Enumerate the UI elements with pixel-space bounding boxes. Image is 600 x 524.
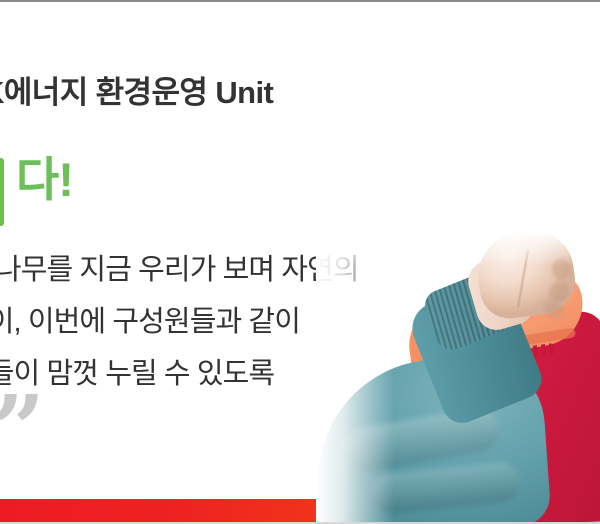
planter-box-shape [0,158,4,226]
seedling-sprout-icon [0,134,6,226]
photo-left-fade [316,232,394,524]
page-root: SK에너지 환경운영 Unit 다! 수 나무를 지금 우리가 보며 자연의 같… [0,0,600,524]
knuckle-shape [544,302,564,318]
closing-quotation-mark-icon: ” [0,383,45,475]
headline-text: 다! [16,152,73,208]
page-title: SK에너지 환경운영 Unit [0,72,562,114]
photo-top-fade [316,232,600,266]
knuckle-shape [550,282,570,302]
headline-row: 다! [0,132,562,228]
raised-fist-person-photo [316,232,600,524]
